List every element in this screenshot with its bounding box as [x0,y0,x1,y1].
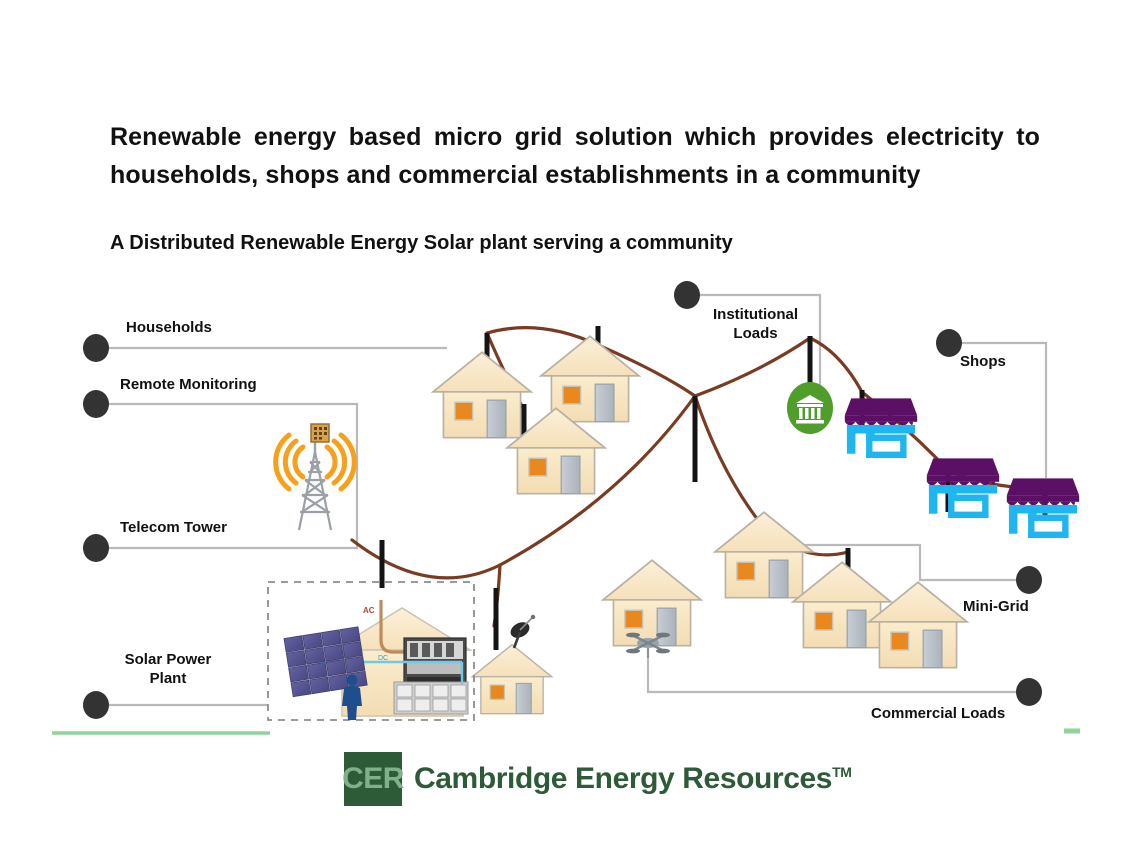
ac-label: AC [363,606,375,615]
house-4 [603,560,701,645]
logo-mark: CER [344,752,402,806]
bullet-institutional-loads [674,281,700,309]
battery-bank [394,682,468,714]
svg-text:DC: DC [378,655,388,662]
label-shops: Shops [960,352,1006,371]
label-institutional-loads: Institutional Loads [703,305,808,343]
solar-plant-block: AC [268,582,474,720]
label-households: Households [126,318,212,337]
house-6 [793,562,891,647]
logo-trademark: TM [832,764,851,780]
institutional-building-icon [787,382,833,434]
label-institutional-loads-line-1: Institutional [703,305,808,324]
label-commercial-loads: Commercial Loads [871,704,1005,723]
bullet-solar-plant [83,691,109,719]
power-line-junction-right [695,338,810,396]
connector-commercial-loads [648,648,1018,692]
power-line-junction-down [695,396,758,520]
bullet-mini-grid [1016,566,1042,594]
logo-company-name: Cambridge Energy Resources [414,762,832,795]
bullet-telecom-tower [83,534,109,562]
bullet-shops [936,329,962,357]
bullet-commercial-loads [1016,678,1042,706]
bullet-households [83,334,109,362]
label-solar-power-plant-line-2: Plant [108,669,228,688]
shop-1 [845,398,917,458]
label-solar-power-plant: Solar Power Plant [108,650,228,688]
house-8-with-dish [473,645,552,714]
bullet-remote-monitoring [83,390,109,418]
satellite-dish-icon [508,615,535,648]
label-solar-power-plant-line-1: Solar Power [108,650,228,669]
label-mini-grid: Mini-Grid [963,597,1029,616]
logo-mark-text: CER [342,762,404,796]
slide-canvas: Renewable energy based micro grid soluti… [0,0,1148,860]
label-telecom-tower: Telecom Tower [120,518,227,537]
house-1 [433,352,531,437]
shop-group [845,398,1079,538]
microgrid-diagram: AC [0,0,1148,860]
logo-wordmark: Cambridge Energy ResourcesTM [414,762,852,796]
label-remote-monitoring: Remote Monitoring [120,375,257,394]
label-institutional-loads-line-2: Loads [703,324,808,343]
house-5 [715,512,813,597]
telecom-tower-icon [276,424,355,530]
shop-2 [927,458,999,518]
shop-3 [1007,478,1079,538]
company-logo: CER Cambridge Energy ResourcesTM [344,752,852,806]
